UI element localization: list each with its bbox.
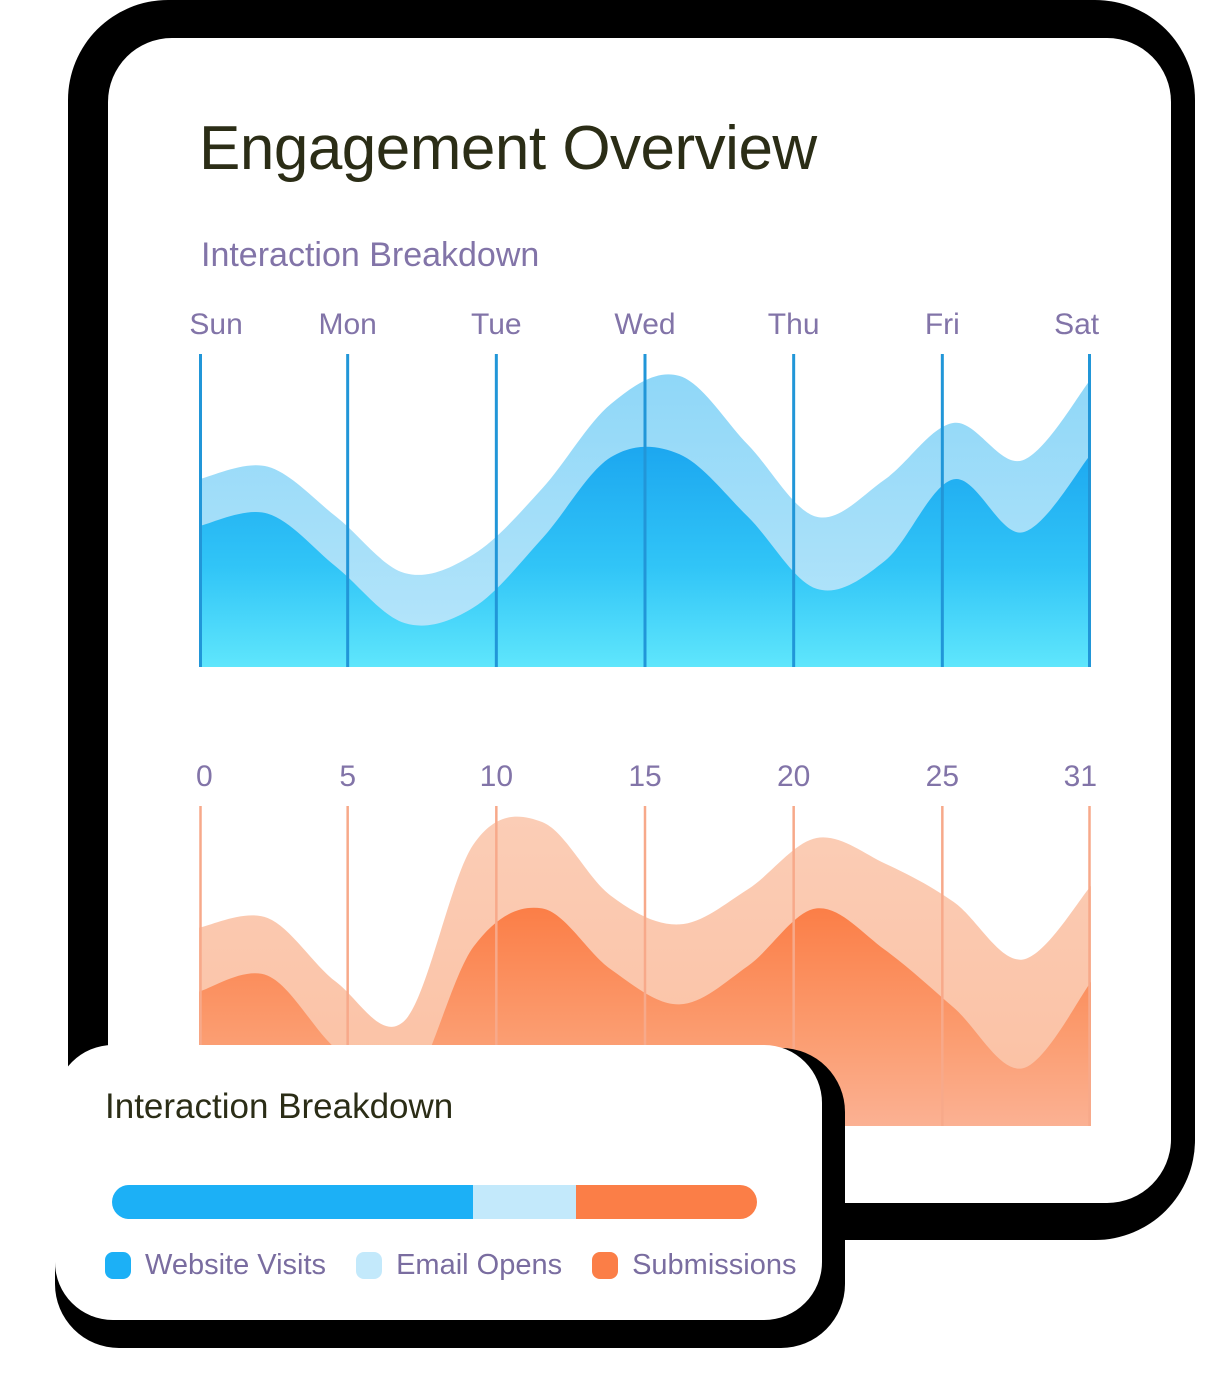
legend-swatch-icon [105, 1252, 131, 1279]
legend-item-submissions[interactable]: Submissions [592, 1249, 796, 1282]
legend-card-title: Interaction Breakdown [105, 1087, 453, 1127]
weekly-axis-labels: SunMonTueWedThuFriSat [199, 308, 1091, 354]
legend-item-email-opens[interactable]: Email Opens [356, 1249, 562, 1282]
axis-tick-label: Fri [925, 308, 960, 342]
axis-tick-label: 5 [339, 760, 356, 794]
weekly-engagement-chart: SunMonTueWedThuFriSat [199, 308, 1091, 688]
legend-item-label: Submissions [632, 1249, 796, 1282]
axis-tick-label: Sun [189, 308, 242, 342]
legend-item-website-visits[interactable]: Website Visits [105, 1249, 326, 1282]
page-subtitle: Interaction Breakdown [201, 236, 539, 275]
axis-tick-label: 0 [196, 760, 213, 794]
legend-swatch-icon [356, 1252, 382, 1279]
legend-list: Website VisitsEmail OpensSubmissions [105, 1249, 795, 1282]
bar-segment-email-opens[interactable] [473, 1185, 576, 1219]
page-title: Engagement Overview [199, 113, 817, 184]
axis-tick-label: Sat [1054, 308, 1099, 342]
bar-segment-website-visits[interactable] [112, 1185, 473, 1219]
axis-tick-label: 25 [926, 760, 959, 794]
axis-tick-label: 31 [1064, 760, 1097, 794]
axis-tick-label: 15 [628, 760, 661, 794]
stacked-proportion-bar[interactable] [112, 1185, 757, 1219]
weekly-area-svg [199, 354, 1091, 667]
legend-item-label: Website Visits [145, 1249, 326, 1282]
axis-tick-label: Tue [471, 308, 522, 342]
bar-segment-submissions[interactable] [576, 1185, 757, 1219]
axis-tick-label: Mon [318, 308, 376, 342]
axis-tick-label: Wed [614, 308, 675, 342]
axis-tick-label: 20 [777, 760, 810, 794]
weekly-chart-plot-area[interactable] [199, 354, 1091, 667]
axis-tick-label: Thu [768, 308, 820, 342]
interaction-breakdown-card: Interaction Breakdown Website VisitsEmai… [55, 1045, 822, 1320]
legend-item-label: Email Opens [396, 1249, 562, 1282]
dashboard-card: Engagement Overview Interaction Breakdow… [108, 38, 1171, 1203]
legend-swatch-icon [592, 1252, 618, 1279]
axis-tick-label: 10 [480, 760, 513, 794]
monthly-axis-labels: 051015202531 [199, 760, 1091, 806]
